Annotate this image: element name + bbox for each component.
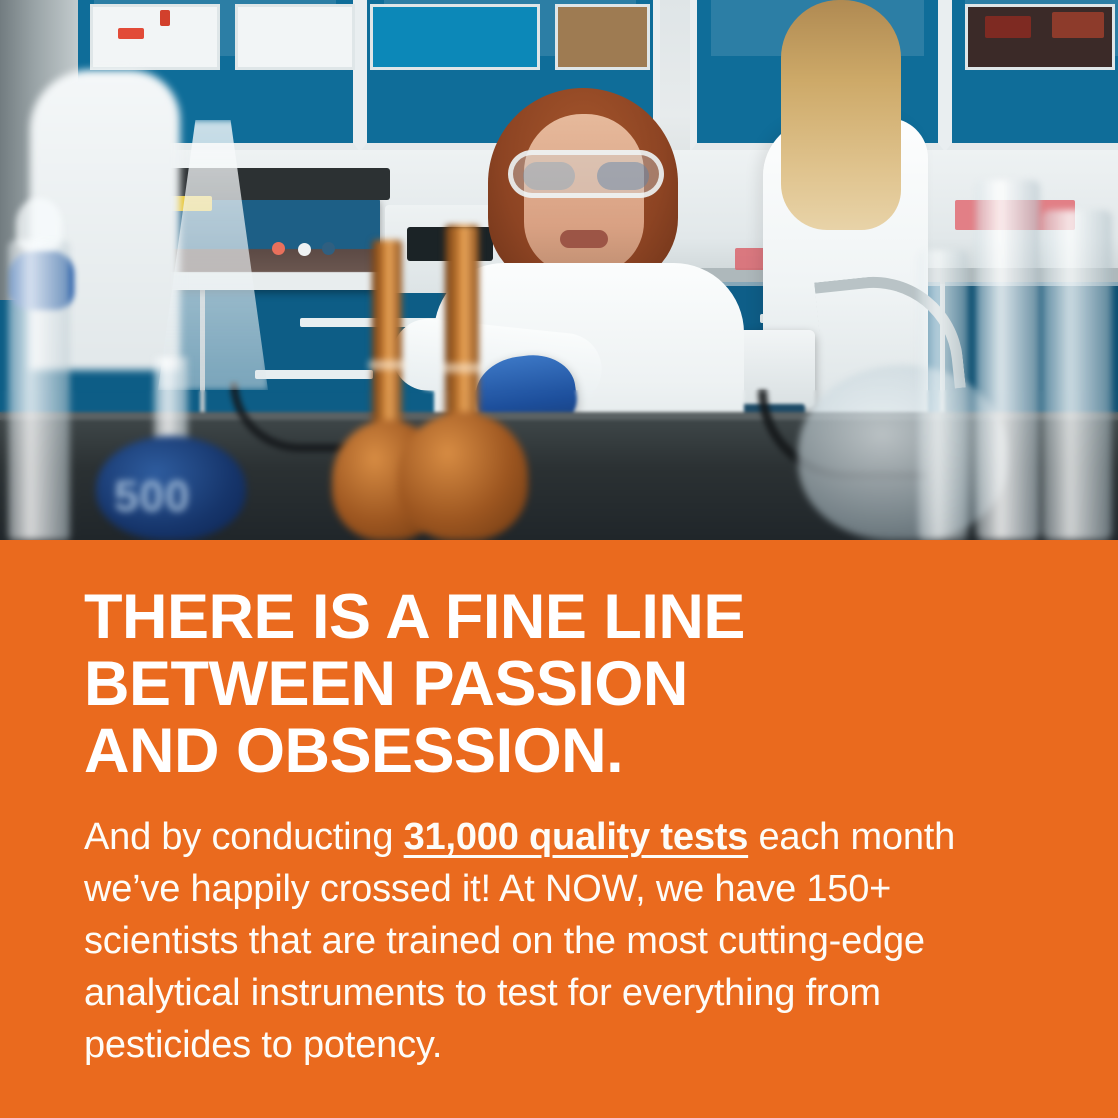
amber-flask-b-neck (445, 225, 479, 430)
page-title: THERE IS A FINE LINE BETWEEN PASSION AND… (84, 584, 1034, 785)
amber-flask-a-ring (368, 360, 406, 370)
shelf-item-red-2 (160, 10, 170, 26)
shelf-item-red-1 (118, 28, 144, 39)
shelf-item-red-3 (985, 16, 1031, 38)
body-text-before: And by conducting (84, 816, 404, 858)
cabinet-window-2 (235, 4, 355, 70)
body-paragraph: And by conducting 31,000 quality tests e… (84, 811, 1014, 1071)
amber-flask-b (420, 225, 504, 540)
cabinet-window-3 (370, 4, 540, 70)
cabinet-window-1 (90, 4, 220, 70)
instrument-led-white (298, 243, 311, 256)
amber-flask-b-ring (443, 363, 481, 373)
instrument-led-red (272, 242, 285, 255)
blue-liquid-flask: 500 (96, 370, 246, 540)
flask-volume-label: 500 (114, 472, 190, 522)
foreground-cylinder-right-1 (976, 180, 1040, 540)
amber-flask-b-bulb (398, 412, 528, 540)
promo-card: 500 THERE IS A FINE LINE BETWEEN PASSION… (0, 0, 1118, 1118)
quality-tests-highlight: 31,000 quality tests (404, 816, 749, 858)
orange-content-panel: THERE IS A FINE LINE BETWEEN PASSION AND… (0, 540, 1118, 1118)
foreground-cylinder-left (8, 240, 70, 540)
lab-photo: 500 (0, 0, 1118, 540)
right-technician-hair (781, 0, 901, 230)
amber-flask-a-neck (372, 240, 402, 445)
foreground-cylinder-right-2 (1042, 210, 1112, 540)
cabinet-window-4 (555, 4, 650, 70)
shelf-item-red-4 (1052, 12, 1104, 38)
safety-goggles-icon (508, 150, 664, 198)
center-technician-mouth (560, 230, 608, 248)
foreground-cylinder-right-3 (918, 250, 968, 540)
instrument-led-blue (322, 242, 335, 255)
